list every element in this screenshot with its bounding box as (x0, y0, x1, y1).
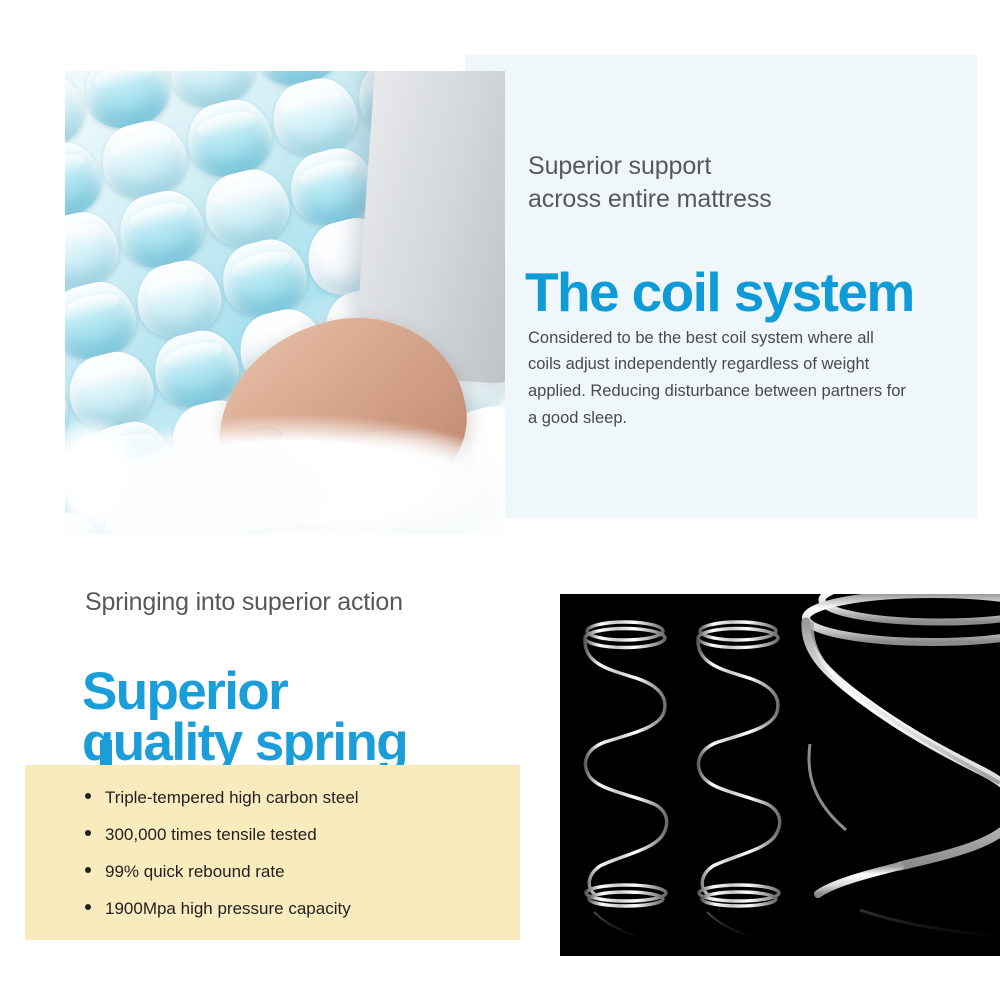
coil-system-eyebrow: Superior support across entire mattress (528, 150, 958, 217)
coil-system-section: Superior support across entire mattress … (25, 55, 977, 518)
feature-text: 300,000 times tensile tested (105, 826, 317, 843)
coil-system-eyebrow-line1: Superior support (528, 152, 711, 180)
bullet-dot-icon (85, 904, 91, 910)
bullet-dot-icon (85, 793, 91, 799)
list-item: Triple-tempered high carbon steel (85, 789, 359, 806)
coil-system-eyebrow-line2: across entire mattress (528, 185, 772, 213)
feature-text: 1900Mpa high pressure capacity (105, 900, 351, 917)
bullet-dot-icon (85, 867, 91, 873)
coil-system-headline: The coil system (525, 265, 985, 320)
quality-spring-eyebrow: Springing into superior action (85, 588, 403, 617)
quality-spring-headline-line1: Superior (82, 662, 287, 721)
quality-spring-headline-line2: quality spring (82, 713, 407, 772)
coil-photo-foreground-coils (65, 414, 505, 534)
list-item: 1900Mpa high pressure capacity (85, 900, 359, 917)
list-item: 99% quick rebound rate (85, 863, 359, 880)
feature-text: Triple-tempered high carbon steel (105, 789, 359, 806)
pocket-coil-mattress-photo (65, 71, 505, 534)
list-item: 300,000 times tensile tested (85, 826, 359, 843)
spring-features-list: Triple-tempered high carbon steel 300,00… (85, 789, 359, 937)
quality-spring-headline: Superior quality spring (82, 666, 502, 769)
spring-features-panel: Triple-tempered high carbon steel 300,00… (25, 765, 520, 940)
page-root: Superior support across entire mattress … (0, 0, 1000, 1000)
coil-springs-illustration (560, 594, 1000, 956)
bullet-dot-icon (85, 830, 91, 836)
coil-springs-photo (560, 594, 1000, 956)
feature-text: 99% quick rebound rate (105, 863, 285, 880)
coil-system-info-panel: Superior support across entire mattress … (465, 55, 977, 518)
blue-accent-tick (100, 740, 112, 766)
coil-system-body-text: Considered to be the best coil system wh… (528, 325, 908, 432)
